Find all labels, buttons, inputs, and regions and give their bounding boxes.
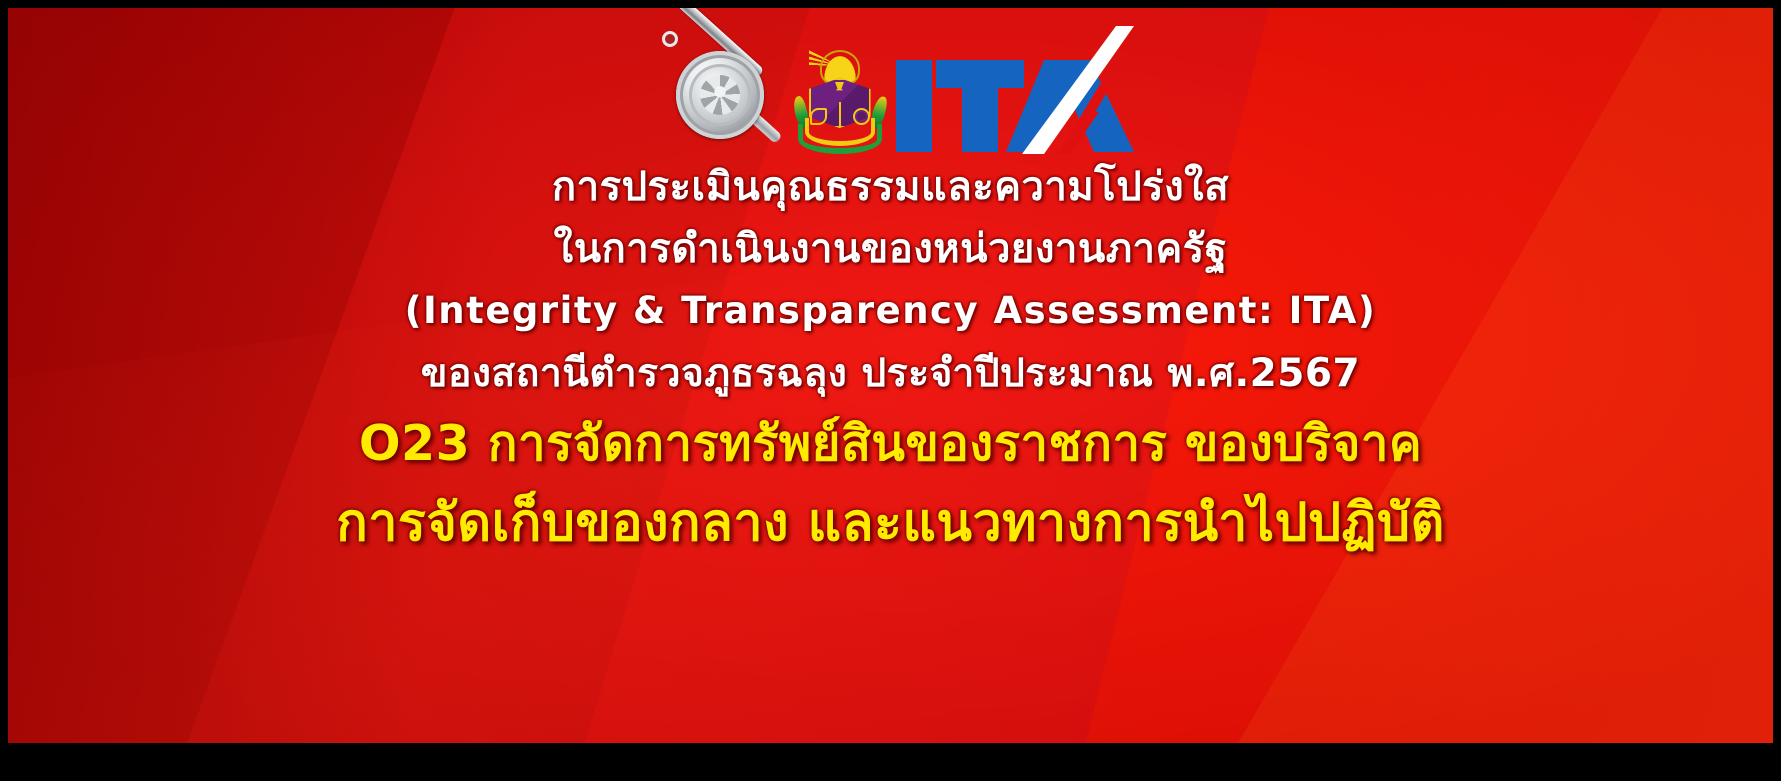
subject-line-2: การจัดเก็บของกลาง และแนวทางการนำไปปฏิบัต… <box>8 482 1773 564</box>
heading-line-3: (Integrity & Transparency Assessment: IT… <box>8 280 1773 342</box>
heading-block: การประเมินคุณธรรมและความโปร่งใส ในการดำเ… <box>8 156 1773 564</box>
heading-line-2: ในการดำเนินงานของหน่วยงานภาครัฐ <box>8 218 1773 280</box>
banner-frame: การประเมินคุณธรรมและความโปร่งใส ในการดำเ… <box>0 0 1781 781</box>
seal-tip-icon <box>662 31 678 47</box>
subject-line-1: O23 การจัดการทรัพย์สินของราชการ ของบริจา… <box>8 406 1773 482</box>
emblem-laurel-gold-icon <box>805 118 875 146</box>
ita-logo <box>894 26 1134 154</box>
royal-seal-icon <box>648 21 786 159</box>
logo-row <box>8 20 1773 160</box>
ita-logo-svg <box>894 26 1134 154</box>
police-emblem-icon <box>794 24 886 156</box>
heading-line-4: ของสถานีตำรวจภูธรฉลุง ประจำปีประมาณ พ.ศ.… <box>8 342 1773 406</box>
red-banner: การประเมินคุณธรรมและความโปร่งใส ในการดำเ… <box>8 8 1773 743</box>
seal-motif-icon <box>700 75 740 115</box>
heading-line-1: การประเมินคุณธรรมและความโปร่งใส <box>8 156 1773 218</box>
